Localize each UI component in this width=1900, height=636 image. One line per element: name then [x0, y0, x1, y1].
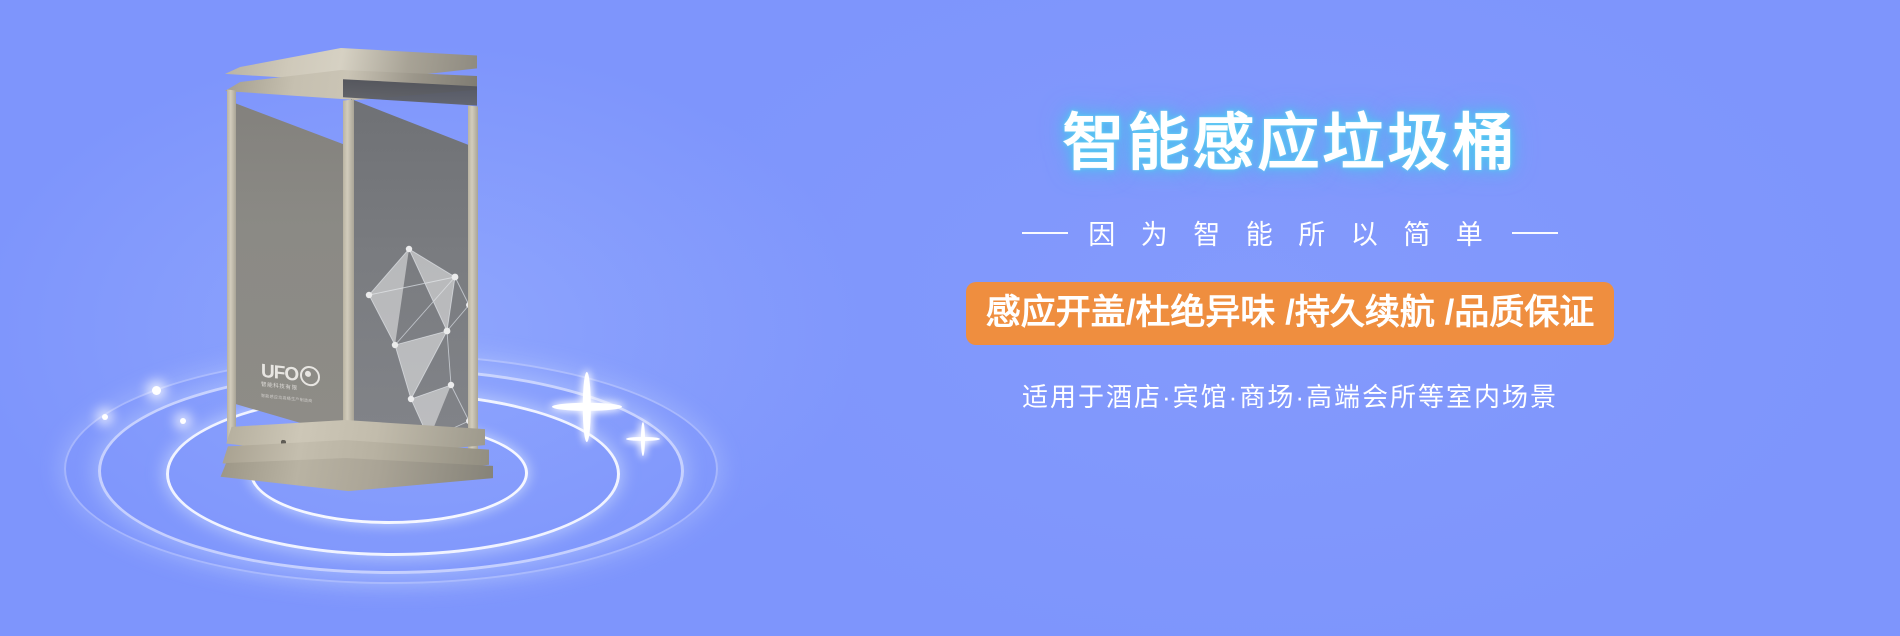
sparkle-dot-left-a — [152, 386, 161, 395]
bin-face-right — [351, 99, 477, 451]
marketing-copy-block: 智能感应垃圾桶 因 为 智 能 所 以 简 单 感应开盖/杜绝异味 /持久续航 … — [880, 108, 1700, 414]
feature-tag-text: 感应开盖/杜绝异味 /持久续航 /品质保证 — [986, 293, 1595, 332]
product-promo-banner: UFO 智能科技有限 智能感应垃圾桶生产制造商 智能感应垃圾桶 因 为 智 能 … — [0, 0, 1900, 636]
feature-tag-bar: 感应开盖/杜绝异味 /持久续航 /品质保证 — [966, 282, 1615, 345]
brand-logo-text: UFO — [261, 361, 298, 384]
brand-logo-ring-icon — [300, 365, 320, 387]
brand-logo: UFO 智能科技有限 智能感应垃圾桶生产制造商 — [261, 361, 320, 405]
network-pattern-graphic — [351, 99, 477, 451]
subtitle-rule-left — [1022, 232, 1068, 234]
bin-corner-post-right — [468, 105, 478, 450]
bin-corner-post-left — [227, 90, 236, 443]
sparkle-dot-left-b — [102, 414, 108, 420]
bin-corner-post-middle — [343, 99, 354, 454]
headline: 智能感应垃圾桶 — [880, 108, 1700, 179]
subtitle: 因 为 智 能 所 以 简 单 — [1088, 213, 1492, 252]
sparkle-dot-left-c — [180, 418, 186, 424]
product-illustration: UFO 智能科技有限 智能感应垃圾桶生产制造商 — [70, 30, 710, 610]
usage-scenarios: 适用于酒店·宾馆·商场·高端会所等室内场景 — [880, 377, 1700, 414]
subtitle-rule-right — [1512, 232, 1558, 234]
subtitle-row: 因 为 智 能 所 以 简 单 — [880, 213, 1700, 252]
